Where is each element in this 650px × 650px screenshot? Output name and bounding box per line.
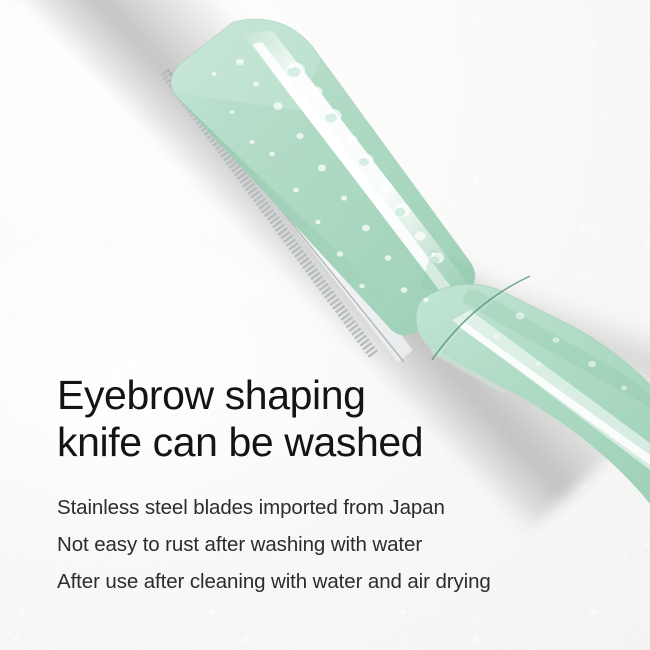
feature-item: Not easy to rust after washing with wate…: [57, 529, 617, 560]
feature-list: Stainless steel blades imported from Jap…: [57, 492, 617, 597]
feature-item: After use after cleaning with water and …: [57, 566, 617, 597]
feature-item: Stainless steel blades imported from Jap…: [57, 492, 617, 523]
headline: Eyebrow shaping knife can be washed: [57, 372, 617, 466]
copy-block: Eyebrow shaping knife can be washed Stai…: [57, 372, 617, 603]
product-poster: Eyebrow shaping knife can be washed Stai…: [0, 0, 650, 650]
